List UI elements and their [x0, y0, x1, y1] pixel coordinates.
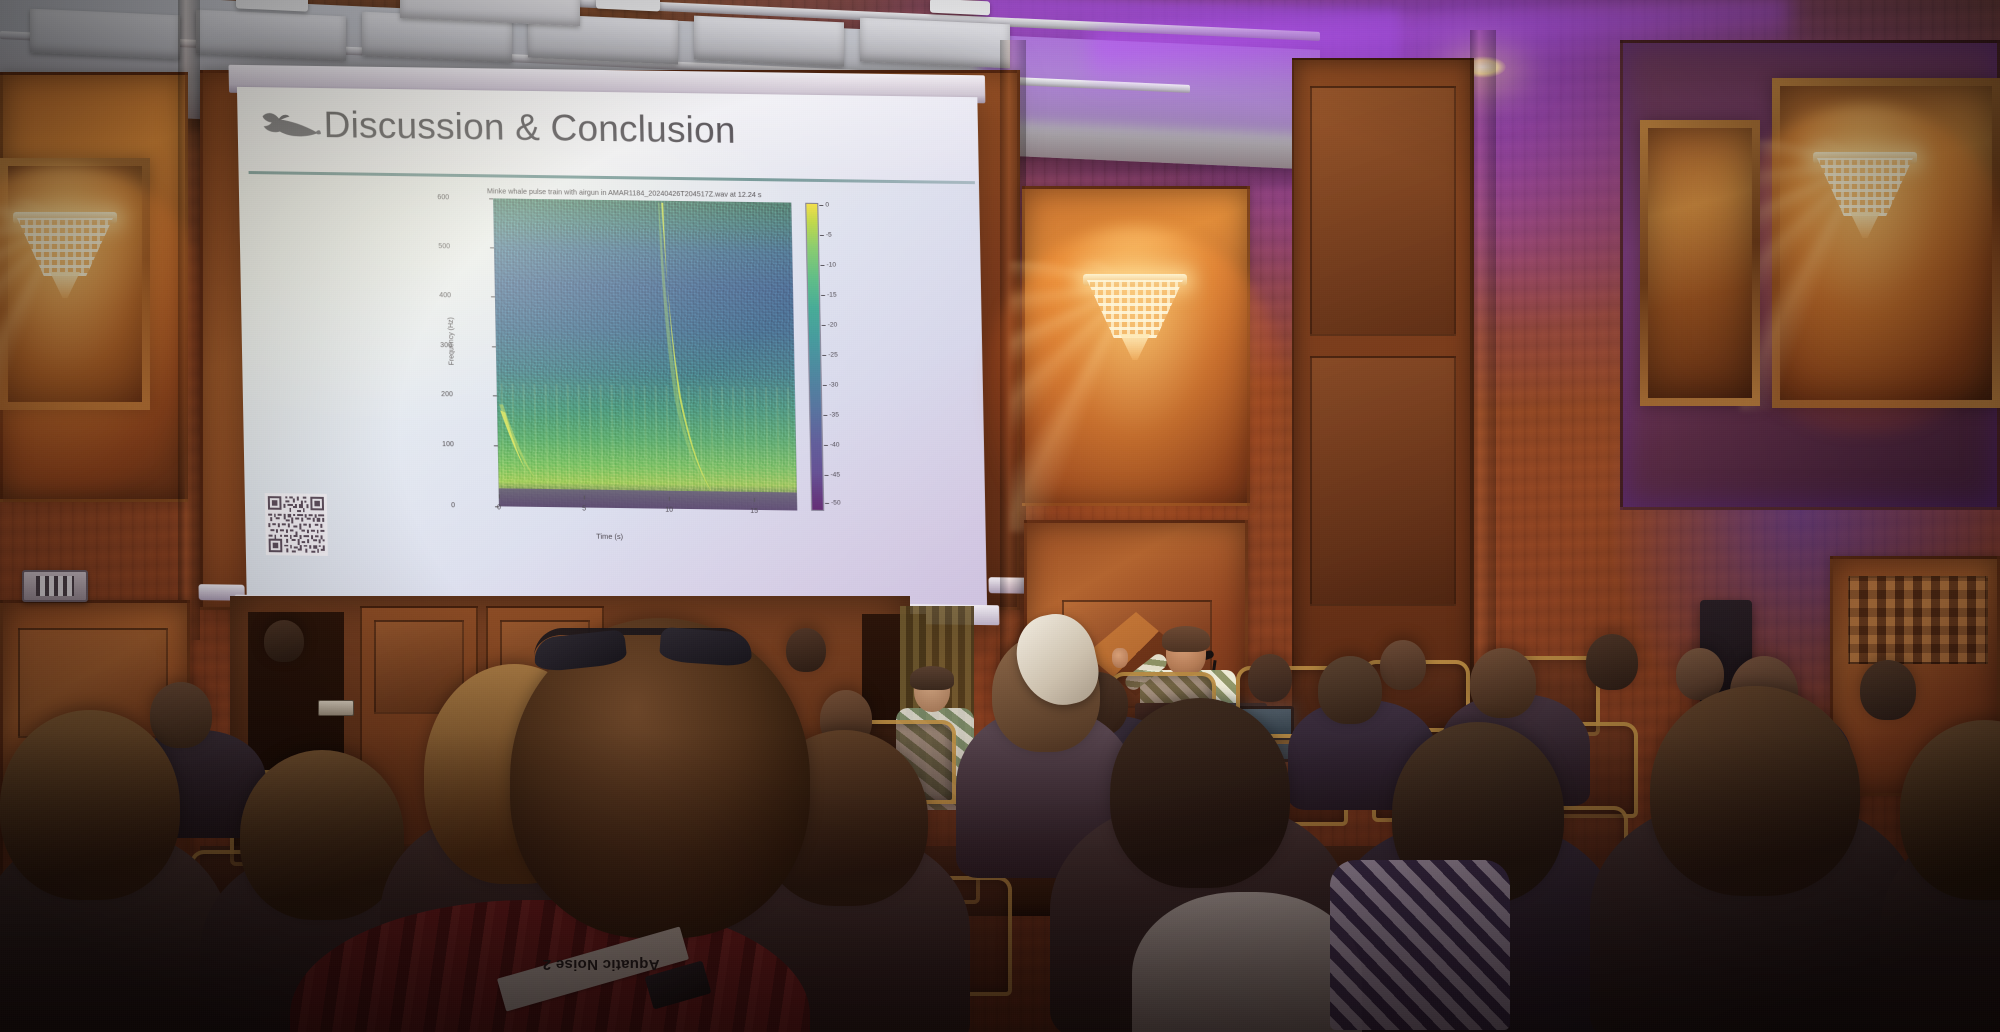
chandelier-wall-sconce: [1070, 272, 1200, 392]
projection-screen: Discussion & Conclusion Minke whale puls…: [237, 87, 987, 607]
colorbar-tick-label: 0: [825, 202, 829, 209]
audience-shoulders: [1132, 892, 1362, 1032]
framed-wall-panel: [1640, 120, 1760, 406]
ceiling-coffer: [694, 16, 844, 67]
ceiling-coffer: [196, 10, 346, 61]
presentation-slide: Discussion & Conclusion Minke whale puls…: [237, 87, 987, 607]
colorbar-tick-label: -10: [826, 262, 836, 269]
y-tick-label: 100: [442, 441, 454, 448]
audience-head: [264, 620, 304, 662]
colorbar-tick-label: -30: [829, 382, 839, 389]
x-tick-label: 10: [665, 507, 673, 514]
colorbar-tick-label: -50: [831, 499, 841, 506]
audience-head: [1470, 648, 1536, 718]
y-tick-label: 500: [438, 243, 450, 250]
door-panel-inset: [1310, 356, 1456, 606]
audience: Aquatic Noise 2: [0, 600, 2000, 1032]
patterned-garment: [1330, 860, 1510, 1030]
audience-head: [1860, 660, 1916, 720]
colorbar-tick-label: -20: [828, 322, 838, 329]
y-axis-label: Frequency (Hz): [448, 317, 456, 365]
audience-head: [786, 628, 826, 672]
audience-head: [1650, 686, 1860, 896]
conference-room-photo: Discussion & Conclusion Minke whale puls…: [0, 0, 2000, 1032]
lanyard-text: Aquatic Noise 2: [516, 956, 686, 973]
y-tick-label: 400: [439, 292, 451, 299]
ceiling-coffer: [860, 18, 1010, 69]
audience-head: [1318, 656, 1382, 724]
x-axis-label: Time (s): [596, 532, 623, 541]
wall-pilaster: [178, 0, 200, 640]
airgun-downsweep-2: [493, 198, 797, 510]
colorbar-tick-label: -5: [826, 232, 832, 239]
y-tick-label: 0: [451, 502, 455, 509]
x-tick-label: 0: [497, 504, 501, 511]
audience-head: [1248, 654, 1292, 702]
colorbar-tick-label: -45: [830, 471, 840, 478]
chandelier-wall-sconce: [0, 210, 130, 330]
colorbar-tick-label: -25: [828, 352, 838, 359]
x-tick-label: 15: [750, 508, 758, 515]
colorbar-tick-label: -40: [830, 442, 840, 449]
qr-code-svg: [268, 496, 325, 553]
colorbar-tick-label: -15: [827, 292, 837, 299]
door-panel-inset: [1310, 86, 1456, 336]
colorbar-tick-label: -35: [829, 412, 839, 419]
spectrogram-plot-area: [493, 198, 797, 510]
qr-code[interactable]: [265, 493, 328, 556]
colorbar: [805, 203, 824, 511]
y-tick-label: 200: [441, 391, 453, 398]
audience-head: [1586, 634, 1638, 690]
audience-head: [1110, 698, 1290, 888]
chandelier-wall-sconce: [1800, 150, 1930, 270]
x-tick-label: 5: [582, 506, 586, 513]
ceiling-vent: [930, 0, 990, 15]
slide-title: Discussion & Conclusion: [323, 104, 736, 152]
y-tick-label: 600: [437, 194, 449, 201]
audience-head: [240, 750, 404, 920]
ceiling-coffer: [30, 9, 180, 60]
audience-head: [0, 710, 180, 900]
audience-head: [150, 682, 212, 748]
audience-head: [1380, 640, 1426, 690]
minke-whale-icon: [259, 107, 322, 144]
spectrogram-figure: Minke whale pulse train with airgun in A…: [453, 186, 860, 560]
qr-code-pattern: [268, 496, 325, 553]
wall-fixture-plate-glyph: [36, 576, 74, 596]
